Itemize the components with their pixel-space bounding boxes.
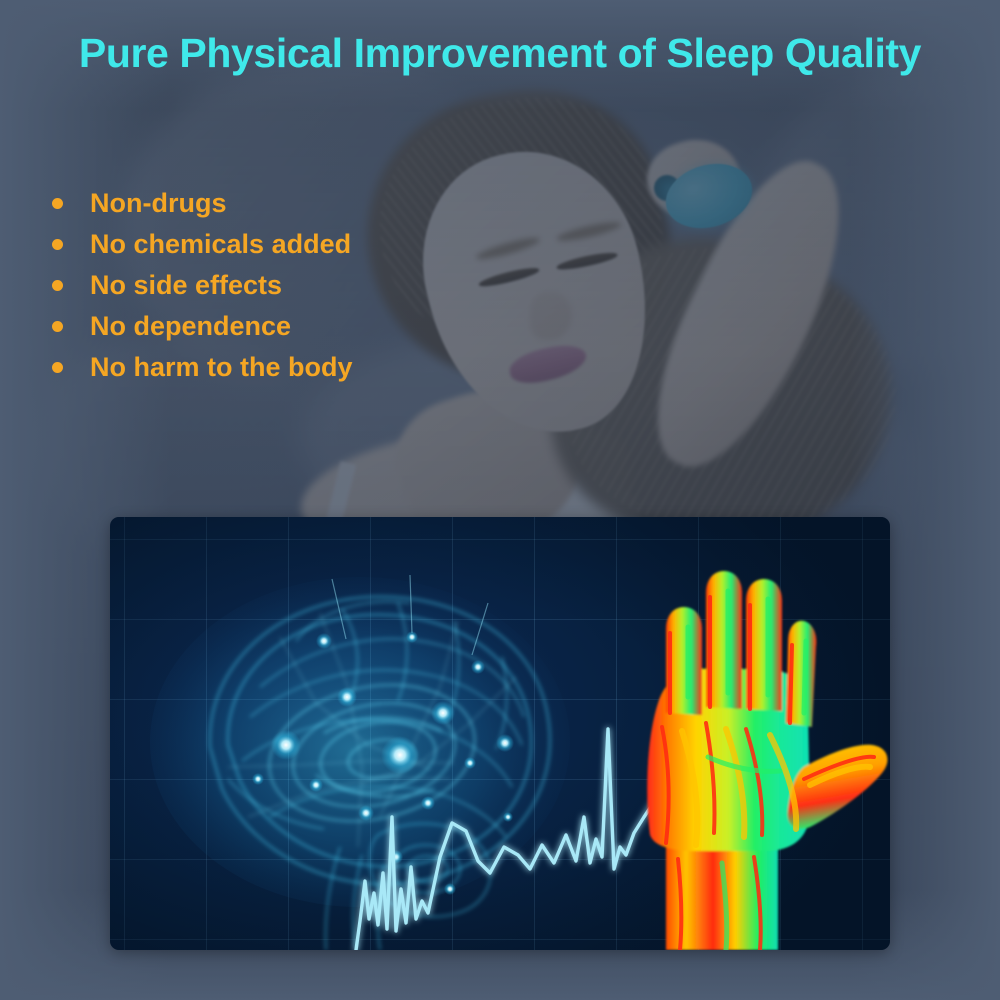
list-item: No side effects <box>52 265 353 306</box>
list-item: No dependence <box>52 306 353 347</box>
bullet-dot-icon <box>52 198 63 209</box>
benefit-label: No side effects <box>90 270 282 301</box>
benefit-label: Non-drugs <box>90 188 226 219</box>
promo-image: Pure Physical Improvement of Sleep Quali… <box>0 0 1000 1000</box>
benefit-label: No dependence <box>90 311 291 342</box>
bullet-dot-icon <box>52 239 63 250</box>
benefits-list: Non-drugs No chemicals added No side eff… <box>52 183 353 388</box>
benefit-label: No harm to the body <box>90 352 353 383</box>
bullet-dot-icon <box>52 321 63 332</box>
bullet-dot-icon <box>52 280 63 291</box>
bullet-dot-icon <box>52 362 63 373</box>
page-title: Pure Physical Improvement of Sleep Quali… <box>0 30 1000 77</box>
list-item: No chemicals added <box>52 224 353 265</box>
tech-illustration-panel <box>110 517 890 950</box>
benefit-label: No chemicals added <box>90 229 351 260</box>
list-item: No harm to the body <box>52 347 353 388</box>
thermal-hand-graphic <box>110 517 890 950</box>
list-item: Non-drugs <box>52 183 353 224</box>
